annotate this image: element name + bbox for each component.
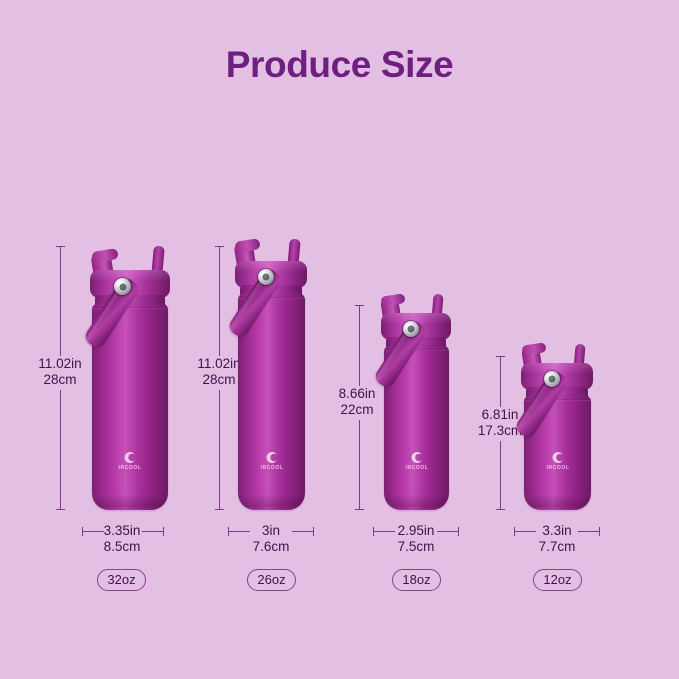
- width-dim-line-right-18oz: [437, 531, 459, 532]
- capacity-badge-18oz[interactable]: 18oz: [392, 569, 441, 591]
- height-dim-cap-bottom-18oz: [355, 509, 364, 510]
- logo-mark-18oz: [412, 452, 423, 463]
- width-dim-cap-right-32oz: [163, 527, 164, 536]
- width-cm-26oz: 7.6cm: [228, 539, 314, 555]
- height-dim-line-upper-18oz: [359, 305, 360, 386]
- width-dim-line-right-12oz: [578, 531, 600, 532]
- width-dim-label-26oz: 3in 7.6cm: [228, 523, 314, 554]
- lid-button-core-26oz: [263, 274, 270, 281]
- height-dim-line-upper-12oz: [500, 356, 501, 407]
- lid-button-26oz[interactable]: [258, 269, 274, 285]
- lid-button-core-18oz: [408, 326, 415, 333]
- width-cm-12oz: 7.7cm: [514, 539, 600, 555]
- width-dim-cap-right-12oz: [599, 527, 600, 536]
- height-dim-line-lower-12oz: [500, 441, 501, 509]
- width-cm-18oz: 7.5cm: [373, 539, 459, 555]
- body-bottom-shade-18oz: [384, 494, 449, 510]
- height-dim-line-lower-26oz: [219, 390, 220, 509]
- brand-logo-26oz: IRCOOL: [247, 452, 297, 474]
- body-bottom-shade-12oz: [524, 494, 591, 510]
- height-dim-cap-bottom-12oz: [496, 509, 505, 510]
- brand-logo-32oz: IRCOOL: [105, 452, 155, 474]
- body-bottom-shade-26oz: [238, 494, 305, 510]
- logo-text-18oz: IRCOOL: [405, 465, 428, 471]
- lid-button-core-32oz: [119, 283, 126, 290]
- height-dim-line-lower-18oz: [359, 420, 360, 509]
- width-dim-label-12oz: 3.3in 7.7cm: [514, 523, 600, 554]
- product-size-infographic: Produce Size 11.02in 28cm: [0, 0, 679, 679]
- width-dim-cap-right-18oz: [458, 527, 459, 536]
- capacity-badge-32oz[interactable]: 32oz: [97, 569, 146, 591]
- logo-text-26oz: IRCOOL: [260, 465, 283, 471]
- brand-logo-12oz: IRCOOL: [533, 452, 583, 474]
- width-dim-label-32oz: 3.35in 8.5cm: [79, 523, 165, 554]
- logo-mark-32oz: [125, 452, 136, 463]
- width-dim-cap-right-26oz: [313, 527, 314, 536]
- height-dim-line-lower-32oz: [60, 390, 61, 509]
- capacity-badge-12oz[interactable]: 12oz: [533, 569, 582, 591]
- logo-text-32oz: IRCOOL: [118, 465, 141, 471]
- spout-cap-32oz: [91, 248, 118, 263]
- lid-button-12oz[interactable]: [544, 371, 560, 387]
- width-dim-line-right-32oz: [142, 531, 164, 532]
- capacity-badge-26oz[interactable]: 26oz: [247, 569, 296, 591]
- lid-button-32oz[interactable]: [114, 278, 131, 295]
- width-cm-32oz: 8.5cm: [79, 539, 165, 555]
- width-dim-label-18oz: 2.95in 7.5cm: [373, 523, 459, 554]
- height-dim-line-upper-26oz: [219, 246, 220, 356]
- logo-text-12oz: IRCOOL: [546, 465, 569, 471]
- body-bottom-shade-32oz: [92, 494, 168, 510]
- spout-cap-12oz: [521, 342, 546, 356]
- lid-button-core-12oz: [549, 376, 556, 383]
- logo-mark-12oz: [553, 452, 564, 463]
- height-dim-line-upper-32oz: [60, 246, 61, 356]
- height-dim-cap-bottom-32oz: [56, 509, 65, 510]
- height-dim-cap-bottom-26oz: [215, 509, 224, 510]
- logo-mark-26oz: [267, 452, 278, 463]
- brand-logo-18oz: IRCOOL: [392, 452, 442, 474]
- spout-cap-26oz: [234, 238, 260, 253]
- spout-cap-18oz: [380, 293, 405, 307]
- width-dim-line-right-26oz: [292, 531, 314, 532]
- page-title: Produce Size: [0, 44, 679, 86]
- lid-button-18oz[interactable]: [403, 321, 419, 337]
